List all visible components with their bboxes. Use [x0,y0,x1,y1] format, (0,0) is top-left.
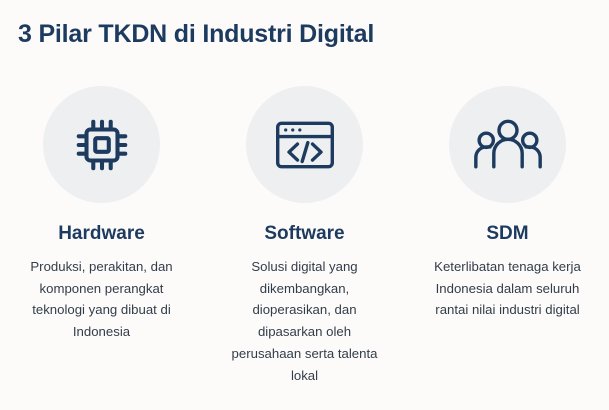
pillar-hardware-heading: Hardware [58,224,145,245]
page-title: 3 Pilar TKDN di Industri Digital [18,20,374,49]
pillar-software-icon-circle [246,86,363,203]
pillar-sdm: SDM Keterlibatan tenaga kerja Indonesia … [406,86,609,321]
pillar-hardware-body: Produksi, perakitan, dan komponen perang… [14,256,190,343]
pillar-sdm-heading: SDM [486,224,528,245]
pillar-software-heading: Software [264,224,344,245]
pillar-hardware: Hardware Produksi, perakitan, dan kompon… [0,86,203,343]
pillar-software-body: Solusi digital yang dikembangkan, dioper… [225,256,385,387]
people-group-icon [473,117,543,173]
cpu-chip-icon [71,114,133,176]
pillar-sdm-icon-circle [449,86,566,203]
code-browser-window-icon [273,115,337,175]
pillar-sdm-body: Keterlibatan tenaga kerja Indonesia dala… [420,256,596,321]
pillars-row: Hardware Produksi, perakitan, dan kompon… [0,86,609,387]
pillar-software: Software Solusi digital yang dikembangka… [203,86,406,387]
infographic-container: 3 Pilar TKDN di Industri Digital [0,0,609,410]
pillar-hardware-icon-circle [43,86,160,203]
